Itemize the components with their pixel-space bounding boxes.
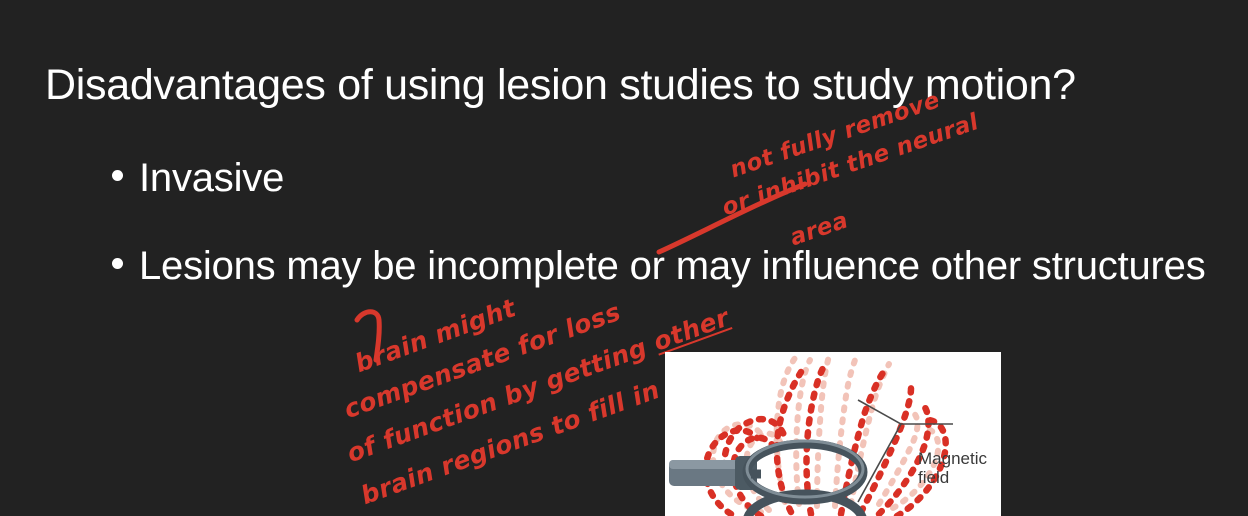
figure-label-line-2: field bbox=[918, 468, 987, 487]
list-item: Invasive bbox=[112, 152, 712, 203]
list-item-label: Invasive bbox=[139, 156, 284, 200]
bullet-dot-icon bbox=[112, 170, 123, 181]
slide-canvas: Disadvantages of using lesion studies to… bbox=[0, 0, 1248, 516]
bullet-dot-icon bbox=[112, 258, 123, 269]
figure-label: Magnetic field bbox=[918, 449, 987, 487]
handwritten-annotation-underlined-word: other bbox=[649, 303, 732, 357]
figure-label-line-1: Magnetic bbox=[918, 449, 987, 468]
figure-panel: Magnetic field bbox=[665, 352, 1001, 516]
tms-coil-magnetic-field-diagram bbox=[665, 352, 1001, 516]
